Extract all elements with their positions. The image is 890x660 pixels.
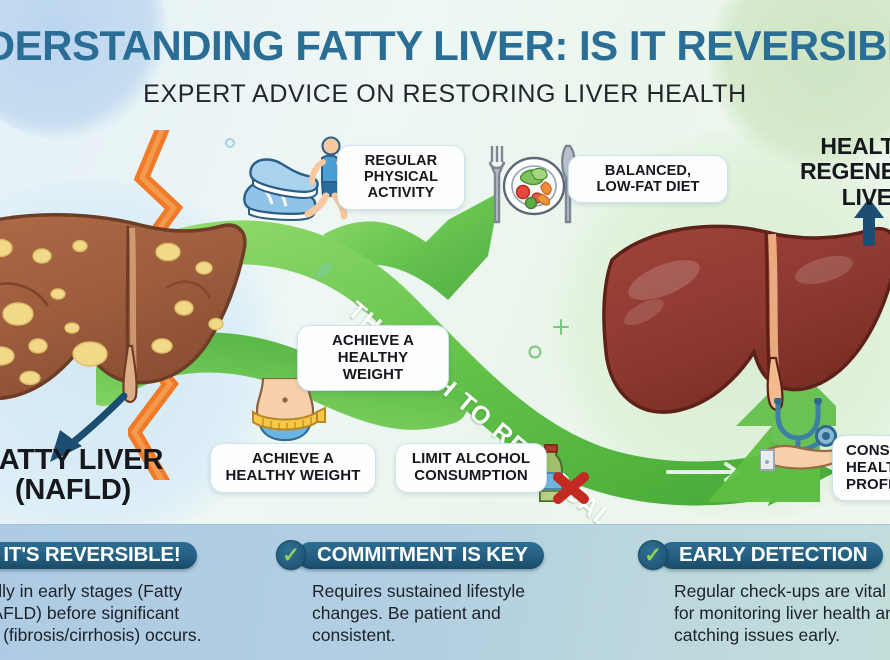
summary-card-header: ✓ COMMITMENT IS KEY [276, 540, 606, 570]
infographic-canvas: UNDERSTANDING FATTY LIVER: IS IT REVERSI… [0, 0, 890, 660]
summary-card-reversible: YES, IT'S REVERSIBLE! Especially in earl… [0, 540, 232, 647]
leaf-accent-icon [312, 258, 336, 282]
salad-plate-icon [487, 140, 579, 228]
check-mark-icon: ✓ [638, 540, 668, 570]
bottom-cards-row: YES, IT'S REVERSIBLE! Especially in earl… [0, 524, 890, 660]
fatty-liver-label: FATTY LIVER (NAFLD) [0, 445, 178, 505]
sparkle-dot-icon [224, 137, 236, 149]
summary-card-header: YES, IT'S REVERSIBLE! [0, 540, 232, 570]
summary-card-title-bar: YES, IT'S REVERSIBLE! [0, 542, 197, 569]
check-mark-icon: ✓ [276, 540, 306, 570]
summary-card-body: Regular check-ups are vital for monitori… [638, 580, 890, 647]
summary-card-body: Especially in early stages (Fatty Liver/… [0, 580, 232, 647]
sparkle-circle-icon [527, 344, 543, 360]
healthy-liver-illustration [598, 208, 890, 423]
callout-regular-physical-activity[interactable]: REGULAR PHYSICAL ACTIVITY [337, 145, 465, 210]
callout-achieve-healthy-weight-top[interactable]: ACHIEVE A HEALTHY WEIGHT [297, 325, 449, 391]
summary-card-title: COMMITMENT IS KEY [317, 543, 528, 567]
summary-card-title-bar: EARLY DETECTION [659, 542, 883, 569]
summary-card-header: ✓ EARLY DETECTION [638, 540, 890, 570]
page-subtitle: EXPERT ADVICE ON RESTORING LIVER HEALTH [143, 80, 747, 109]
callout-balanced-low-fat-diet[interactable]: BALANCED, LOW-FAT DIET [568, 155, 728, 203]
summary-card-title-bar: COMMITMENT IS KEY [297, 542, 544, 569]
summary-card-early-detection: ✓ EARLY DETECTION Regular check-ups are … [638, 540, 890, 647]
page-title: UNDERSTANDING FATTY LIVER: IS IT REVERSI… [0, 22, 890, 70]
healthy-liver-label: HEALTHY, REGENERATED LIVER [800, 134, 890, 210]
summary-card-commitment: ✓ COMMITMENT IS KEY Requires sustained l… [276, 540, 606, 647]
callout-consult-healthcare-professional[interactable]: CONSULT HEALTHCARE PROFESSIONAL [832, 435, 890, 501]
summary-card-title: EARLY DETECTION [679, 543, 867, 567]
callout-limit-alcohol-consumption[interactable]: LIMIT ALCOHOL CONSUMPTION [395, 443, 547, 493]
callout-achieve-healthy-weight-bottom[interactable]: ACHIEVE A HEALTHY WEIGHT [210, 443, 376, 493]
check-glyph: ✓ [644, 545, 662, 566]
sparkle-plus-icon [552, 318, 570, 336]
summary-card-title: YES, IT'S REVERSIBLE! [0, 543, 181, 567]
check-glyph: ✓ [282, 545, 300, 566]
summary-card-body: Requires sustained lifestyle changes. Be… [276, 580, 606, 647]
fatty-liver-illustration [0, 196, 252, 416]
